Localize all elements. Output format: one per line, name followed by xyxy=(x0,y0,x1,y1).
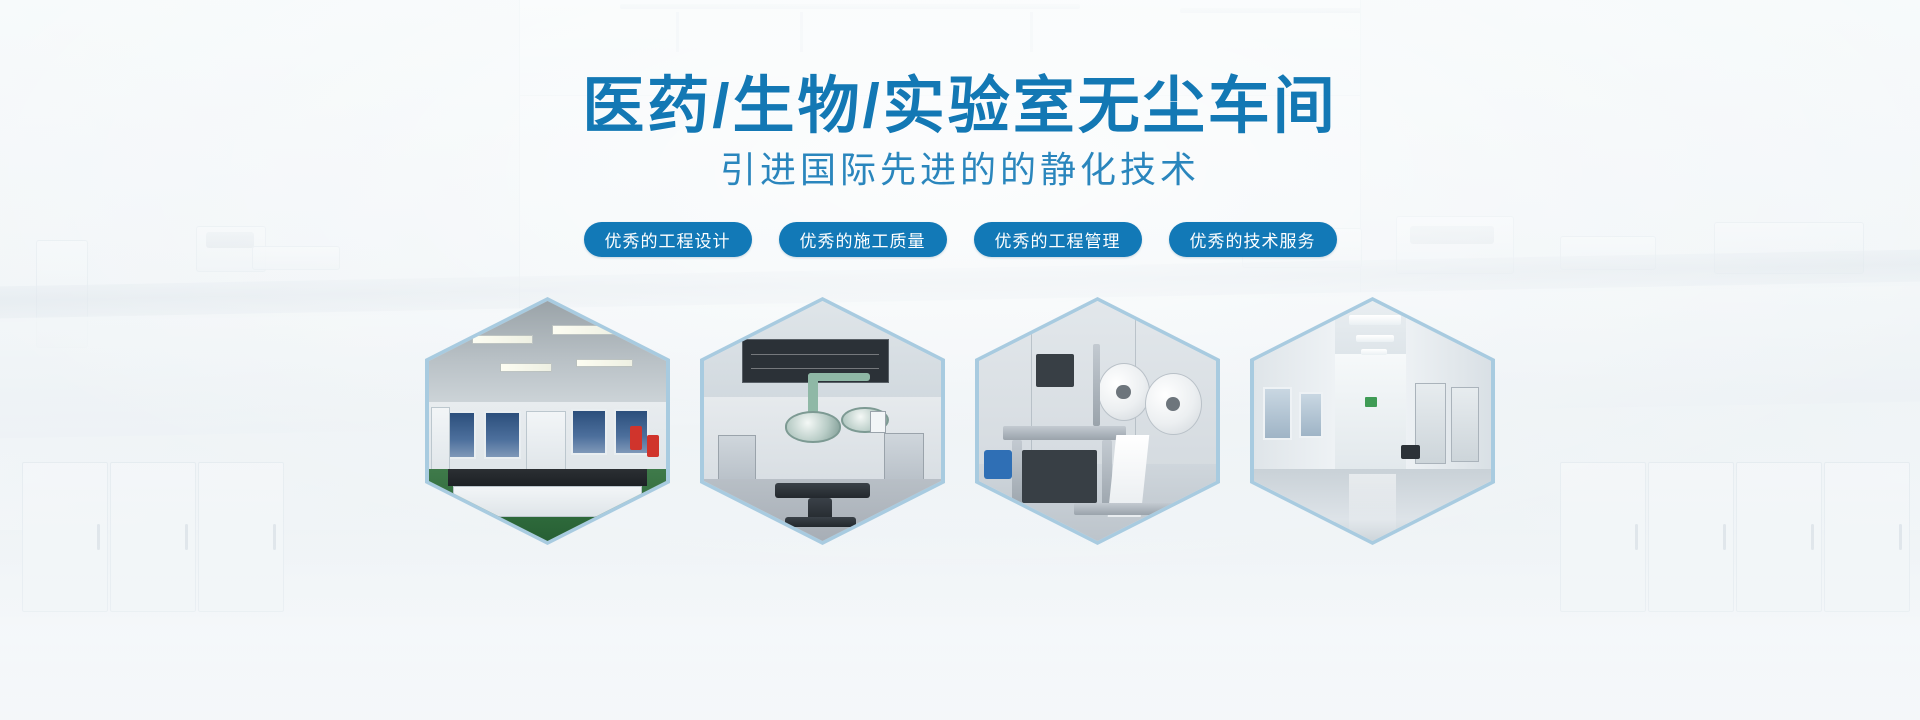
hexagon-photo-corridor xyxy=(1254,301,1491,541)
photo-window xyxy=(484,411,522,459)
wall-control-panel xyxy=(1401,445,1420,459)
wall-clock xyxy=(870,411,887,433)
feature-pill-quality[interactable]: 优秀的施工质量 xyxy=(779,222,947,257)
ceiling-light xyxy=(576,359,633,367)
blue-crate xyxy=(984,450,1012,479)
corridor-door xyxy=(1451,387,1479,461)
ceiling-light-strip xyxy=(1361,349,1387,355)
hexagon-production-line-cleanroom[interactable] xyxy=(975,297,1220,545)
hexagon-photo-production-line xyxy=(979,301,1216,541)
roll-shaft xyxy=(1093,344,1100,426)
photo-bench-base xyxy=(453,486,643,517)
feature-pill-design[interactable]: 优秀的工程设计 xyxy=(584,222,752,257)
hero-banner: 医药/生物/实验室无尘车间 引进国际先进的的静化技术 优秀的工程设计 优秀的施工… xyxy=(0,0,1920,720)
surgical-light-arm xyxy=(808,373,870,381)
feature-pill-list: 优秀的工程设计 优秀的施工质量 优秀的工程管理 优秀的技术服务 xyxy=(0,222,1920,257)
page-title: 医药/生物/实验室无尘车间 xyxy=(0,76,1920,138)
floor-reflection xyxy=(1349,474,1396,541)
machine-body xyxy=(1022,450,1098,503)
photo-bench xyxy=(448,469,647,486)
exit-sign xyxy=(1365,397,1377,407)
feature-pill-management[interactable]: 优秀的工程管理 xyxy=(974,222,1142,257)
feature-pill-service[interactable]: 优秀的技术服务 xyxy=(1169,222,1337,257)
wall-seam xyxy=(1031,301,1032,469)
banner-content: 医药/生物/实验室无尘车间 引进国际先进的的静化技术 优秀的工程设计 优秀的施工… xyxy=(0,0,1920,720)
photo-ceiling xyxy=(429,301,666,409)
photo-eyewash xyxy=(647,435,659,457)
hexagon-cleanroom-corridor[interactable] xyxy=(1250,297,1495,545)
corridor-window xyxy=(1263,387,1291,440)
hexagon-gallery xyxy=(0,297,1920,545)
conveyor xyxy=(1074,503,1207,515)
operating-table-foot xyxy=(785,517,856,527)
photo-eyewash xyxy=(630,426,642,450)
roll-hub xyxy=(1116,385,1130,399)
machine-frame xyxy=(1003,426,1126,440)
ceiling-panel-line xyxy=(751,354,879,355)
hexagon-laboratory-bench-room[interactable] xyxy=(425,297,670,545)
operating-table xyxy=(775,483,870,497)
corridor-window xyxy=(1299,392,1323,438)
surgical-lamp xyxy=(785,411,842,442)
photo-cabinet xyxy=(526,411,566,473)
control-box xyxy=(1036,354,1074,388)
hexagon-photo-laboratory xyxy=(429,301,666,541)
ceiling-light xyxy=(500,363,552,371)
page-subtitle: 引进国际先进的的静化技术 xyxy=(0,152,1920,188)
ceiling-panel-line xyxy=(751,368,879,369)
hexagon-photo-operating-room xyxy=(704,301,941,541)
hexagon-operating-cleanroom[interactable] xyxy=(700,297,945,545)
photo-window xyxy=(571,409,607,455)
photo-cabinet xyxy=(431,407,450,479)
ceiling-light-strip xyxy=(1349,315,1401,325)
ceiling-light xyxy=(472,335,534,345)
ceiling-light-strip xyxy=(1356,335,1394,342)
